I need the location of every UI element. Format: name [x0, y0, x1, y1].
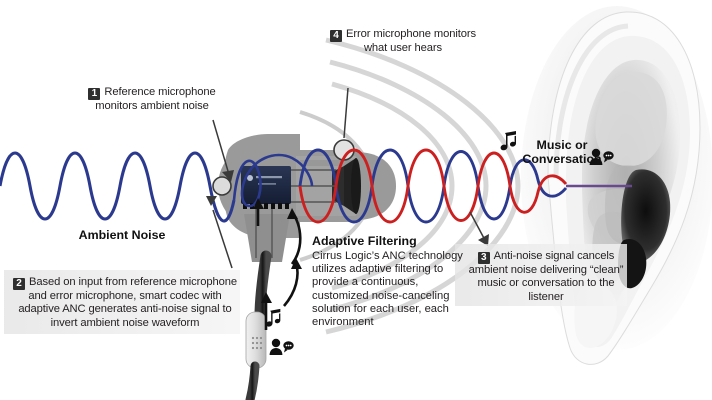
adaptive-filtering-body: Cirrus Logic’s ANC technology utilizes a…: [312, 250, 464, 329]
callout-1-badge: 1: [88, 88, 100, 100]
callout-3-text: Anti-noise signal cancels ambient noise …: [469, 250, 624, 303]
callout-2-badge: 2: [13, 278, 25, 290]
ambient-noise-waveform: [0, 153, 234, 221]
person-speech-bubble-icon-cable: [268, 338, 294, 356]
signal-flow-arrowheads: [253, 198, 302, 303]
music-or-conversation-label: Music or Conversation: [516, 138, 608, 166]
callout-4-line2: what user hears: [364, 42, 442, 54]
diagram-artwork: [0, 0, 712, 400]
callout-3: 3Anti-noise signal cancels ambient noise…: [458, 246, 634, 310]
anc-diagram-canvas: 1Reference microphone monitors ambient n…: [0, 0, 712, 400]
callout-4-badge: 4: [330, 30, 342, 42]
callout-2-text: Based on input from reference microphone…: [18, 276, 237, 329]
music-note-icon-cable: [262, 308, 284, 330]
callout-4-line1: Error microphone monitors: [346, 28, 476, 40]
callout-3-badge: 3: [478, 252, 490, 264]
codec-chip-icon: [241, 166, 291, 209]
adaptive-filtering-title: Adaptive Filtering: [312, 234, 464, 249]
human-ear-illustration: [521, 6, 712, 364]
adaptive-filtering-block: Adaptive Filtering Cirrus Logic’s ANC te…: [312, 234, 464, 329]
noise-wave-through-bud: [234, 155, 312, 206]
ambient-noise-label: Ambient Noise: [42, 228, 202, 242]
error-microphone-icon: [334, 140, 354, 160]
speaker-driver-icon: [332, 158, 361, 214]
callout-1: 1Reference microphone monitors ambient n…: [72, 86, 232, 113]
reference-microphone-icon: [213, 177, 231, 195]
music-label-line2: Conversation: [522, 152, 601, 166]
music-label-line1: Music or: [537, 138, 588, 152]
callout-1-line2: monitors ambient noise: [72, 100, 232, 113]
callout-1-line1: Reference microphone: [104, 86, 215, 98]
callout-2: 2Based on input from reference microphon…: [6, 272, 244, 335]
callout-4: 4Error microphone monitors what user hea…: [318, 28, 488, 55]
